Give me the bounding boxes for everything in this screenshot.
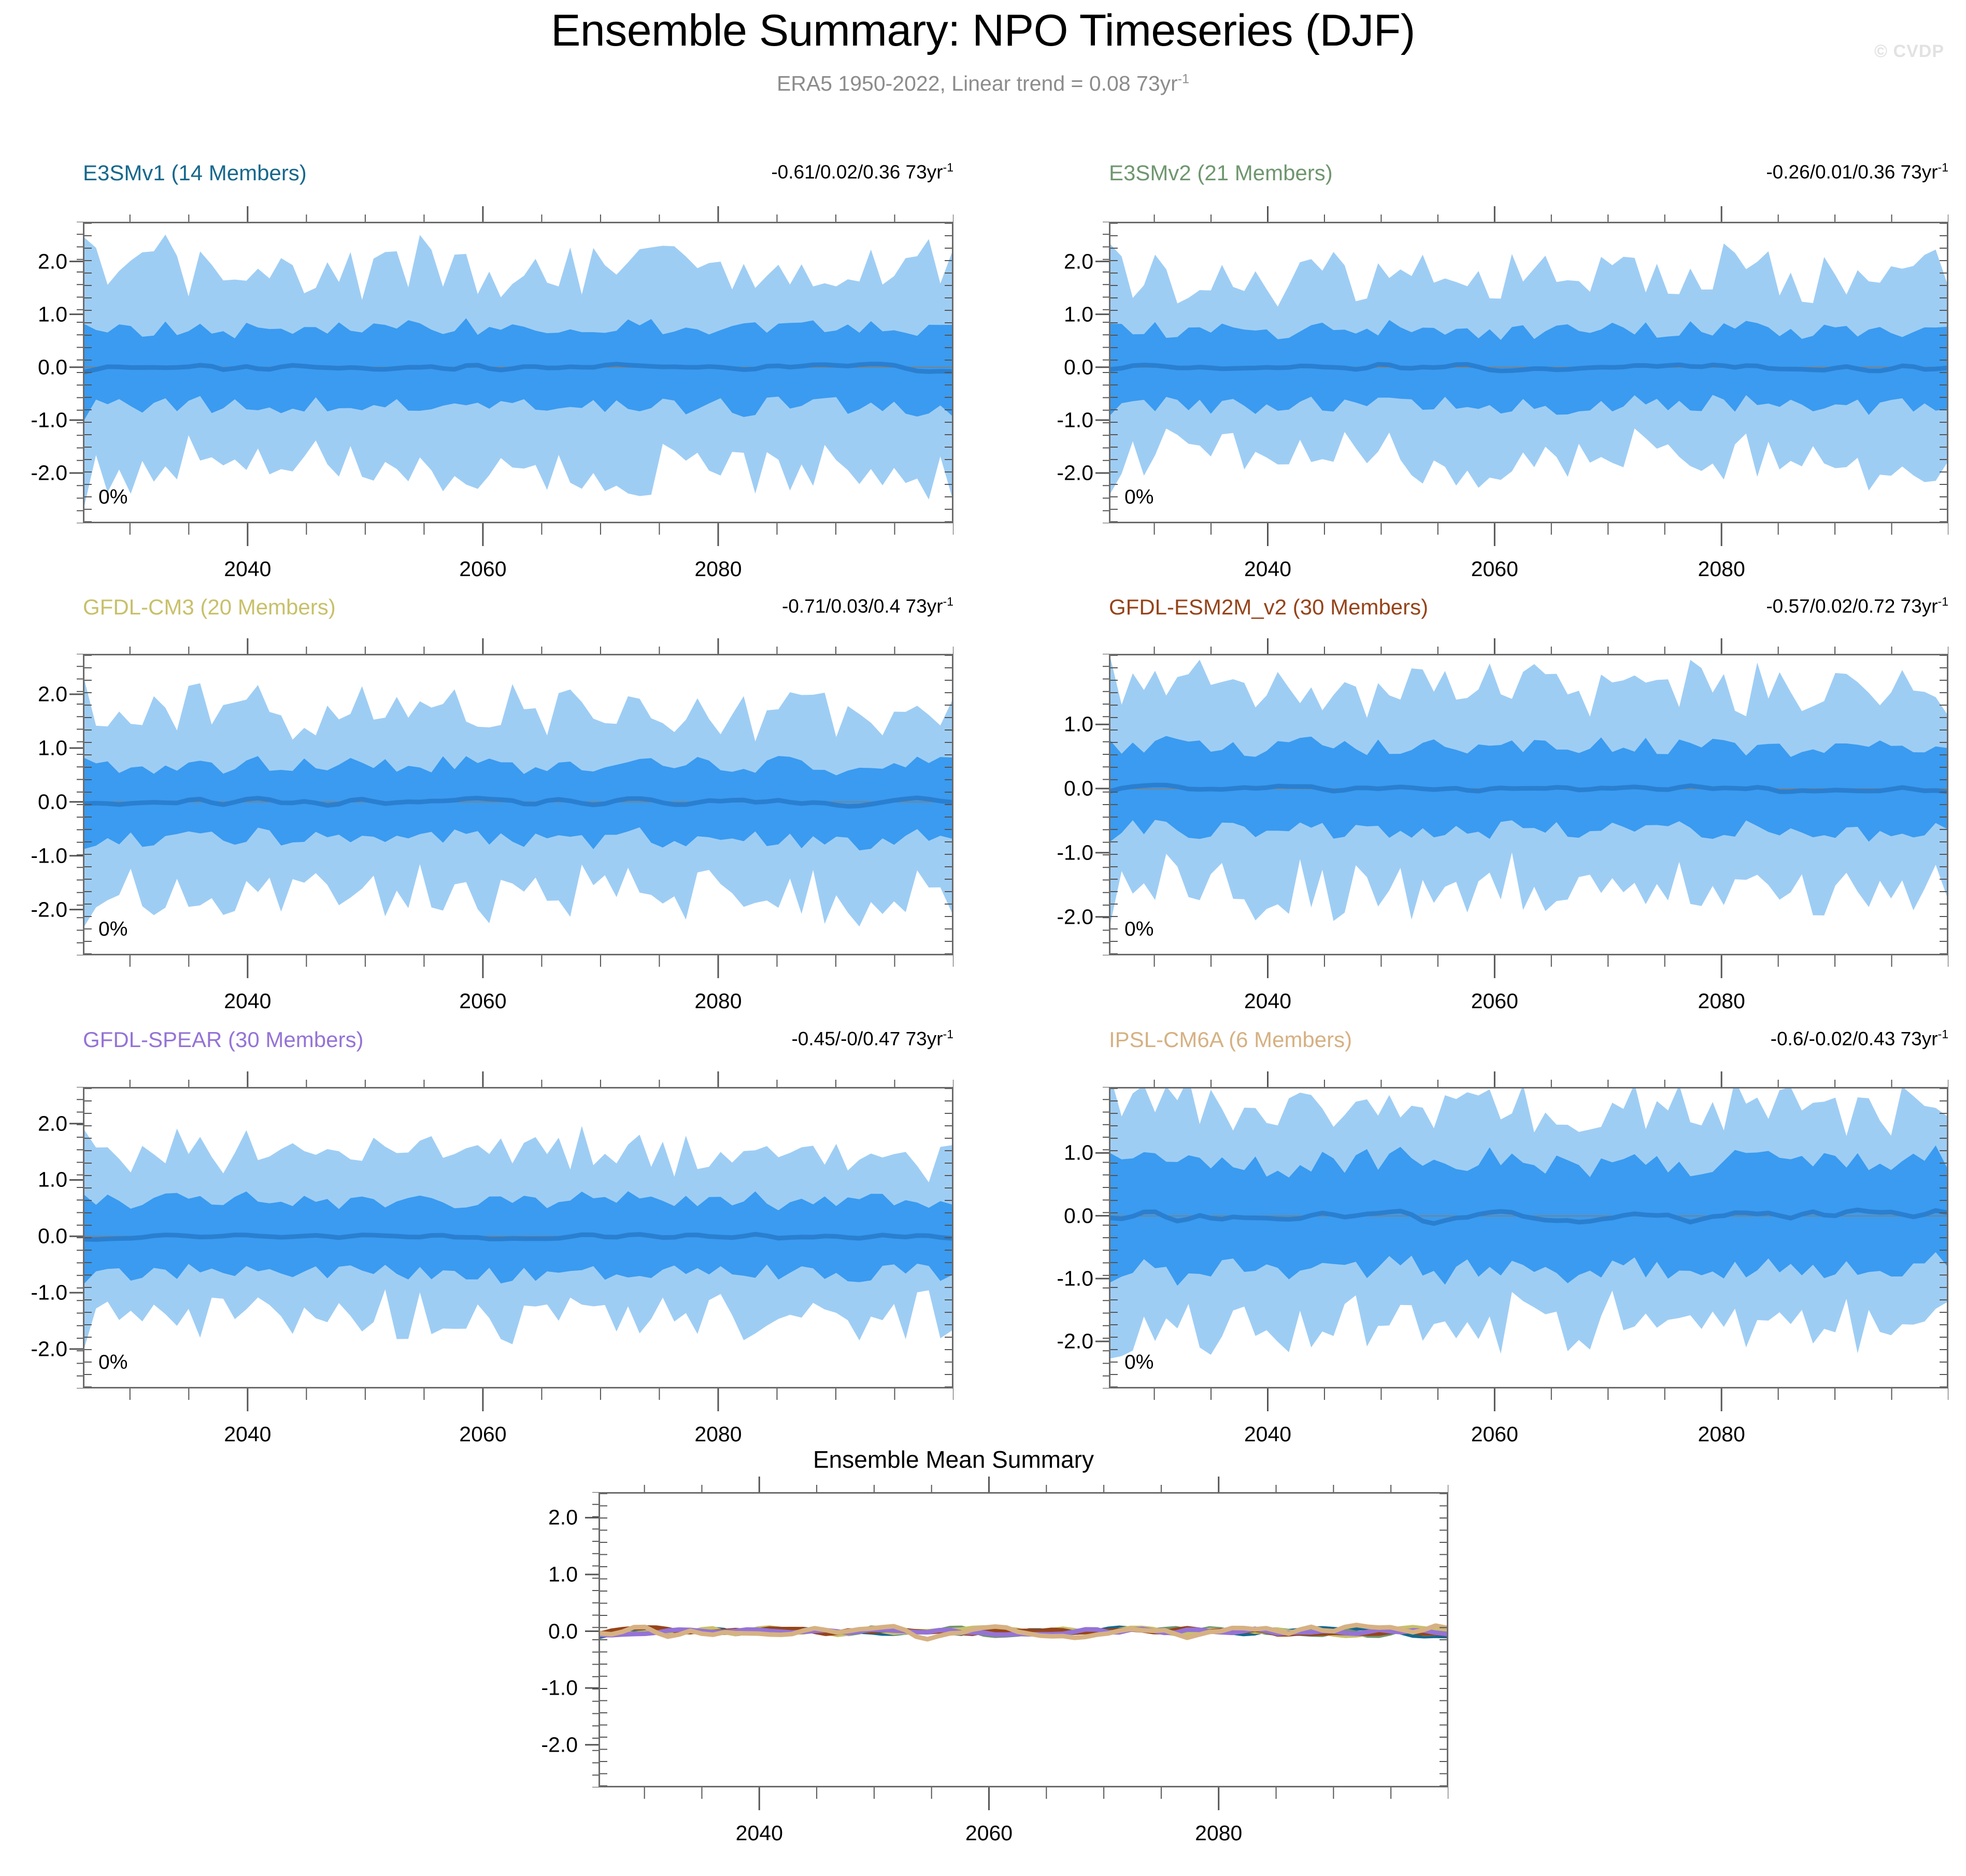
x-tick-label-gfdl-esm2m-v2-2: 2080 [1698, 991, 1745, 1012]
panel-trend-exponent-gfdl-cm3: -1 [943, 595, 953, 608]
y-axis-ticks-gfdl-spear [69, 1087, 83, 1388]
plot-area-gfdl-cm3 [83, 654, 953, 955]
percent-label-e3smv2: 0% [1124, 486, 1153, 509]
percent-label-e3smv1: 0% [98, 486, 127, 509]
panel-trend-e3smv2: -0.26/0.01/0.36 73yr-1 [1766, 161, 1948, 183]
y-tick-label-gfdl-cm3-1: 1.0 [0, 737, 67, 758]
y-tick-label-gfdl-spear-1: 1.0 [0, 1169, 67, 1191]
y-tick-label-ipsl-cm6a-3: -2.0 [1026, 1331, 1093, 1352]
panel-title-e3smv2: E3SMv2 (21 Members) [1109, 161, 1333, 185]
panel-trend-value-ipsl-cm6a: -0.6/-0.02/0.43 73yr [1771, 1028, 1938, 1049]
panel-trend-e3smv1: -0.61/0.02/0.36 73yr-1 [771, 161, 953, 183]
cvdp-watermark: © CVDP [1874, 41, 1944, 62]
summary-y-tick-label-1: 1.0 [510, 1564, 578, 1585]
x-axis-ticks-gfdl-esm2m-v2 [1109, 955, 1948, 979]
y-tick-label-gfdl-cm3-2: 0.0 [0, 791, 67, 812]
x-tick-label-gfdl-esm2m-v2-1: 2060 [1471, 991, 1518, 1012]
plot-area-gfdl-esm2m-v2 [1109, 654, 1948, 955]
summary-x-axis-top-ticks [599, 1477, 1448, 1492]
x-tick-label-e3smv2-0: 2040 [1244, 558, 1291, 580]
y-tick-label-e3smv1-3: -1.0 [0, 409, 67, 431]
x-tick-label-gfdl-esm2m-v2-0: 2040 [1244, 991, 1291, 1012]
y-tick-label-gfdl-cm3-4: -2.0 [0, 899, 67, 920]
page-title: Ensemble Summary: NPO Timeseries (DJF) [0, 5, 1966, 56]
panel-trend-value-e3smv1: -0.61/0.02/0.36 73yr [771, 161, 943, 182]
y-axis-ticks-e3smv1 [69, 222, 83, 523]
x-tick-label-gfdl-spear-0: 2040 [224, 1424, 271, 1445]
y-tick-label-gfdl-esm2m-v2-0: 1.0 [1026, 714, 1093, 735]
panel-trend-value-gfdl-esm2m-v2: -0.57/0.02/0.72 73yr [1766, 595, 1937, 617]
panel-trend-value-e3smv2: -0.26/0.01/0.36 73yr [1766, 161, 1937, 182]
y-tick-label-e3smv2-2: 0.0 [1026, 356, 1093, 378]
x-tick-label-ipsl-cm6a-2: 2080 [1698, 1424, 1745, 1445]
x-axis-top-ticks-gfdl-cm3 [83, 638, 953, 654]
y-axis-ticks-e3smv2 [1095, 222, 1109, 523]
y-tick-label-e3smv1-1: 1.0 [0, 304, 67, 325]
panel-trend-exponent-e3smv1: -1 [943, 161, 953, 174]
summary-plot-area [599, 1492, 1448, 1787]
x-tick-label-e3smv2-1: 2060 [1471, 558, 1518, 580]
x-axis-ticks-gfdl-spear [83, 1388, 953, 1412]
x-axis-top-ticks-e3smv1 [83, 206, 953, 222]
y-axis-ticks-gfdl-cm3 [69, 654, 83, 955]
y-tick-label-e3smv1-4: -2.0 [0, 463, 67, 484]
y-tick-label-e3smv2-4: -2.0 [1026, 463, 1093, 484]
panel-trend-exponent-gfdl-spear: -1 [943, 1027, 953, 1041]
figure-title-text: Ensemble Summary: NPO Timeseries (DJF) [551, 6, 1415, 55]
x-axis-ticks-gfdl-cm3 [83, 955, 953, 979]
x-axis-ticks-ipsl-cm6a [1109, 1388, 1948, 1412]
y-tick-label-gfdl-spear-0: 2.0 [0, 1113, 67, 1134]
y-tick-label-e3smv2-0: 2.0 [1026, 251, 1093, 272]
plot-area-gfdl-spear [83, 1087, 953, 1388]
x-axis-ticks-e3smv2 [1109, 523, 1948, 547]
plot-area-e3smv2 [1109, 222, 1948, 523]
x-tick-label-e3smv1-2: 2080 [694, 558, 742, 580]
y-tick-label-gfdl-cm3-0: 2.0 [0, 683, 67, 705]
y-tick-label-gfdl-spear-3: -1.0 [0, 1282, 67, 1304]
percent-label-gfdl-esm2m-v2: 0% [1124, 918, 1153, 941]
x-tick-label-ipsl-cm6a-0: 2040 [1244, 1424, 1291, 1445]
y-axis-ticks-ipsl-cm6a [1095, 1087, 1109, 1388]
y-axis-ticks-gfdl-esm2m-v2 [1095, 654, 1109, 955]
panel-title-gfdl-spear: GFDL-SPEAR (30 Members) [83, 1027, 363, 1052]
x-tick-label-ipsl-cm6a-1: 2060 [1471, 1424, 1518, 1445]
y-tick-label-gfdl-spear-4: -2.0 [0, 1338, 67, 1359]
figure-subtitle-superscript: -1 [1178, 71, 1189, 86]
plot-area-e3smv1 [83, 222, 953, 523]
x-tick-label-e3smv1-0: 2040 [224, 558, 271, 580]
panel-title-gfdl-cm3: GFDL-CM3 (20 Members) [83, 595, 336, 620]
percent-label-gfdl-spear: 0% [98, 1351, 127, 1374]
panel-trend-gfdl-spear: -0.45/-0/0.47 73yr-1 [791, 1027, 953, 1050]
x-tick-label-gfdl-spear-2: 2080 [694, 1424, 742, 1445]
y-tick-label-gfdl-spear-2: 0.0 [0, 1226, 67, 1247]
panel-trend-gfdl-esm2m-v2: -0.57/0.02/0.72 73yr-1 [1766, 595, 1948, 617]
summary-title: Ensemble Mean Summary [529, 1445, 1378, 1473]
x-axis-top-ticks-gfdl-spear [83, 1071, 953, 1087]
summary-x-tick-label-0: 2040 [736, 1823, 783, 1844]
x-tick-label-e3smv1-1: 2060 [459, 558, 506, 580]
y-tick-label-e3smv1-2: 0.0 [0, 356, 67, 378]
summary-y-tick-label-3: -1.0 [510, 1678, 578, 1699]
percent-label-gfdl-cm3: 0% [98, 918, 127, 941]
plot-area-ipsl-cm6a [1109, 1087, 1948, 1388]
panel-title-gfdl-esm2m-v2: GFDL-ESM2M_v2 (30 Members) [1109, 595, 1428, 620]
x-axis-ticks-e3smv1 [83, 523, 953, 547]
y-tick-label-e3smv1-0: 2.0 [0, 251, 67, 272]
panel-trend-exponent-e3smv2: -1 [1938, 161, 1948, 174]
y-tick-label-ipsl-cm6a-1: 0.0 [1026, 1205, 1093, 1226]
y-tick-label-gfdl-esm2m-v2-2: -1.0 [1026, 842, 1093, 863]
figure-subtitle: ERA5 1950-2022, Linear trend = 0.08 73yr… [0, 71, 1966, 96]
x-axis-top-ticks-ipsl-cm6a [1109, 1071, 1948, 1087]
x-tick-label-gfdl-cm3-0: 2040 [224, 991, 271, 1012]
summary-y-tick-label-0: 2.0 [510, 1507, 578, 1528]
y-tick-label-gfdl-cm3-3: -1.0 [0, 845, 67, 866]
x-axis-top-ticks-e3smv2 [1109, 206, 1948, 222]
percent-label-ipsl-cm6a: 0% [1124, 1351, 1153, 1374]
summary-y-tick-label-4: -2.0 [510, 1734, 578, 1755]
y-tick-label-e3smv2-1: 1.0 [1026, 304, 1093, 325]
summary-x-tick-label-1: 2060 [965, 1823, 1013, 1844]
y-tick-label-ipsl-cm6a-0: 1.0 [1026, 1142, 1093, 1164]
y-tick-label-ipsl-cm6a-2: -1.0 [1026, 1268, 1093, 1289]
x-tick-label-gfdl-cm3-2: 2080 [694, 991, 742, 1012]
panel-trend-gfdl-cm3: -0.71/0.03/0.4 73yr-1 [782, 595, 953, 617]
y-tick-label-gfdl-esm2m-v2-3: -2.0 [1026, 906, 1093, 927]
panel-trend-exponent-gfdl-esm2m-v2: -1 [1938, 595, 1948, 608]
x-tick-label-e3smv2-2: 2080 [1698, 558, 1745, 580]
y-tick-label-gfdl-esm2m-v2-1: 0.0 [1026, 778, 1093, 799]
panel-trend-exponent-ipsl-cm6a: -1 [1938, 1027, 1948, 1041]
summary-y-axis-ticks [585, 1492, 599, 1787]
x-tick-label-gfdl-cm3-1: 2060 [459, 991, 506, 1012]
summary-x-axis-ticks [599, 1787, 1448, 1811]
x-axis-top-ticks-gfdl-esm2m-v2 [1109, 638, 1948, 654]
panel-trend-ipsl-cm6a: -0.6/-0.02/0.43 73yr-1 [1771, 1027, 1948, 1050]
panel-trend-value-gfdl-spear: -0.45/-0/0.47 73yr [791, 1028, 943, 1049]
figure-subtitle-text: ERA5 1950-2022, Linear trend = 0.08 73yr [777, 71, 1178, 95]
summary-x-tick-label-2: 2080 [1195, 1823, 1242, 1844]
panel-trend-value-gfdl-cm3: -0.71/0.03/0.4 73yr [782, 595, 943, 617]
panel-title-e3smv1: E3SMv1 (14 Members) [83, 161, 307, 185]
x-tick-label-gfdl-spear-1: 2060 [459, 1424, 506, 1445]
panel-title-ipsl-cm6a: IPSL-CM6A (6 Members) [1109, 1027, 1352, 1052]
summary-y-tick-label-2: 0.0 [510, 1621, 578, 1642]
y-tick-label-e3smv2-3: -1.0 [1026, 409, 1093, 431]
